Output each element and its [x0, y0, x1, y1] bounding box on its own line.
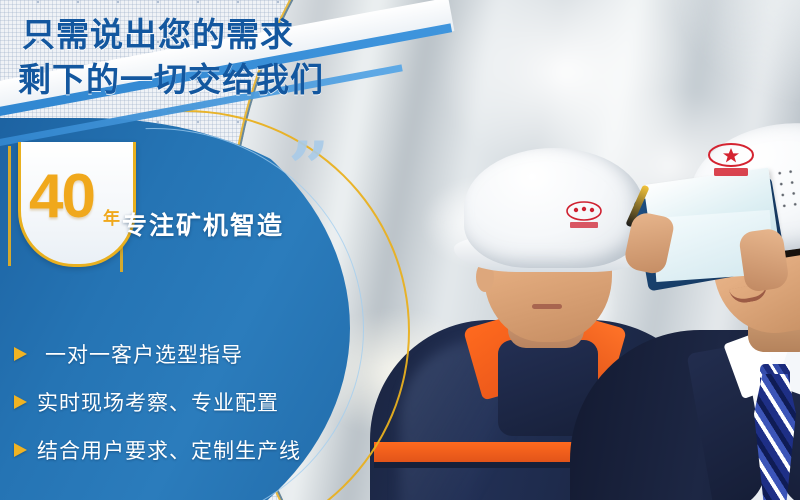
worker-hand-right	[738, 227, 790, 293]
years-badge: 40 年	[18, 142, 136, 267]
list-item-label: 实时现场考察、专业配置	[37, 387, 279, 417]
headline-line-2: 剩下的一切交给我们	[18, 57, 418, 102]
slogan-text: 专注矿机智造	[122, 206, 284, 242]
gold-accent-line-left	[8, 146, 11, 266]
years-unit: 年	[103, 204, 120, 229]
feature-list: 一对一客户选型指导 实时现场考察、专业配置 结合用户要求、定制生产线	[14, 330, 314, 474]
uniform-chest-emblem-icon	[700, 142, 762, 182]
arrow-right-icon	[14, 395, 27, 409]
years-number: 40	[29, 166, 94, 228]
list-item: 结合用户要求、定制生产线	[14, 426, 314, 474]
list-item: 一对一客户选型指导	[14, 330, 314, 378]
list-item-label: 一对一客户选型指导	[45, 339, 243, 369]
arrow-right-icon	[14, 347, 27, 361]
promo-banner: 只需说出您的需求 剩下的一切交给我们 40 年 专注矿机智造 ” 一对一客户选型…	[0, 0, 800, 500]
list-item: 实时现场考察、专业配置	[14, 378, 314, 426]
headline: 只需说出您的需求 剩下的一切交给我们	[18, 12, 418, 102]
headline-line-1: 只需说出您的需求	[22, 12, 418, 57]
list-item-label: 结合用户要求、定制生产线	[37, 435, 301, 465]
quote-mark-icon: ”	[288, 138, 329, 198]
arrow-right-icon	[14, 443, 27, 457]
